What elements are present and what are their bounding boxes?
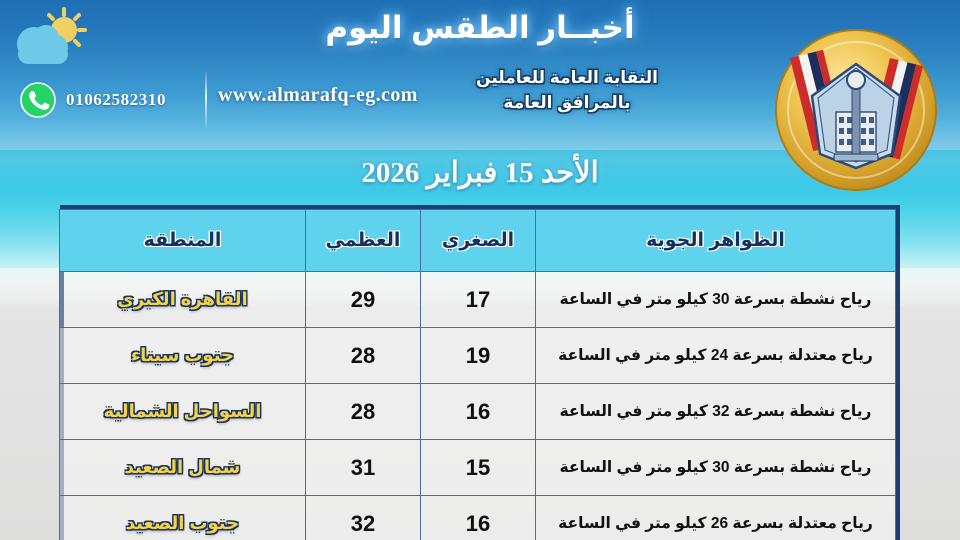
cell-max: 32 xyxy=(306,496,421,540)
cell-max: 31 xyxy=(306,440,421,496)
weather-poster: أخبــار الطقس اليوم النقابة العامة للعام… xyxy=(0,0,960,540)
table-row: رياح معتدلة بسرعة 24 كيلو متر في الساعة … xyxy=(60,328,896,384)
cell-min: 15 xyxy=(421,440,536,496)
organization-name: النقابة العامة للعاملين بالمرافق العامة xyxy=(402,66,732,115)
cell-max: 28 xyxy=(306,328,421,384)
organization-line-1: النقابة العامة للعاملين xyxy=(402,66,732,91)
column-header-region: المنطقة xyxy=(60,210,306,272)
union-badge-logo xyxy=(774,28,938,192)
table-body: رياح نشطة بسرعة 30 كيلو متر في الساعة 17… xyxy=(60,272,896,540)
cell-min: 17 xyxy=(421,272,536,328)
column-header-max: العظمي xyxy=(306,210,421,272)
cell-min: 19 xyxy=(421,328,536,384)
cell-region: القاهرة الكبري xyxy=(60,272,306,328)
cell-region: شمال الصعيد xyxy=(60,440,306,496)
table-row: رياح معتدلة بسرعة 26 كيلو متر في الساعة … xyxy=(60,496,896,540)
organization-line-2: بالمرافق العامة xyxy=(402,91,732,116)
weather-table-container: الظواهر الجوية الصغري العظمي المنطقة ريا… xyxy=(60,205,900,540)
whatsapp-icon[interactable] xyxy=(20,82,56,118)
cell-max: 29 xyxy=(306,272,421,328)
weather-table: الظواهر الجوية الصغري العظمي المنطقة ريا… xyxy=(59,209,896,540)
cell-phenomena: رياح نشطة بسرعة 30 كيلو متر في الساعة xyxy=(536,440,896,496)
table-row: رياح نشطة بسرعة 32 كيلو متر في الساعة 16… xyxy=(60,384,896,440)
cell-phenomena: رياح نشطة بسرعة 30 كيلو متر في الساعة xyxy=(536,272,896,328)
cell-min: 16 xyxy=(421,384,536,440)
cell-phenomena: رياح نشطة بسرعة 32 كيلو متر في الساعة xyxy=(536,384,896,440)
column-header-min: الصغري xyxy=(421,210,536,272)
table-header-row: الظواهر الجوية الصغري العظمي المنطقة xyxy=(60,210,896,272)
column-header-phenomena: الظواهر الجوية xyxy=(536,210,896,272)
cell-region: السواحل الشمالية xyxy=(60,384,306,440)
cell-phenomena: رياح معتدلة بسرعة 26 كيلو متر في الساعة xyxy=(536,496,896,540)
website-url[interactable]: www.almarafq-eg.com xyxy=(218,84,418,107)
table-header: الظواهر الجوية الصغري العظمي المنطقة xyxy=(60,210,896,272)
cell-phenomena: رياح معتدلة بسرعة 24 كيلو متر في الساعة xyxy=(536,328,896,384)
table-row: رياح نشطة بسرعة 30 كيلو متر في الساعة 17… xyxy=(60,272,896,328)
cell-min: 16 xyxy=(421,496,536,540)
phone-number[interactable]: 01062582310 xyxy=(66,90,166,110)
contact-phone[interactable]: 01062582310 xyxy=(20,79,166,121)
cell-max: 28 xyxy=(306,384,421,440)
cell-region: جنوب سيناء xyxy=(60,328,306,384)
cell-region: جنوب الصعيد xyxy=(60,496,306,540)
table-row: رياح نشطة بسرعة 30 كيلو متر في الساعة 15… xyxy=(60,440,896,496)
contact-divider xyxy=(205,72,207,128)
